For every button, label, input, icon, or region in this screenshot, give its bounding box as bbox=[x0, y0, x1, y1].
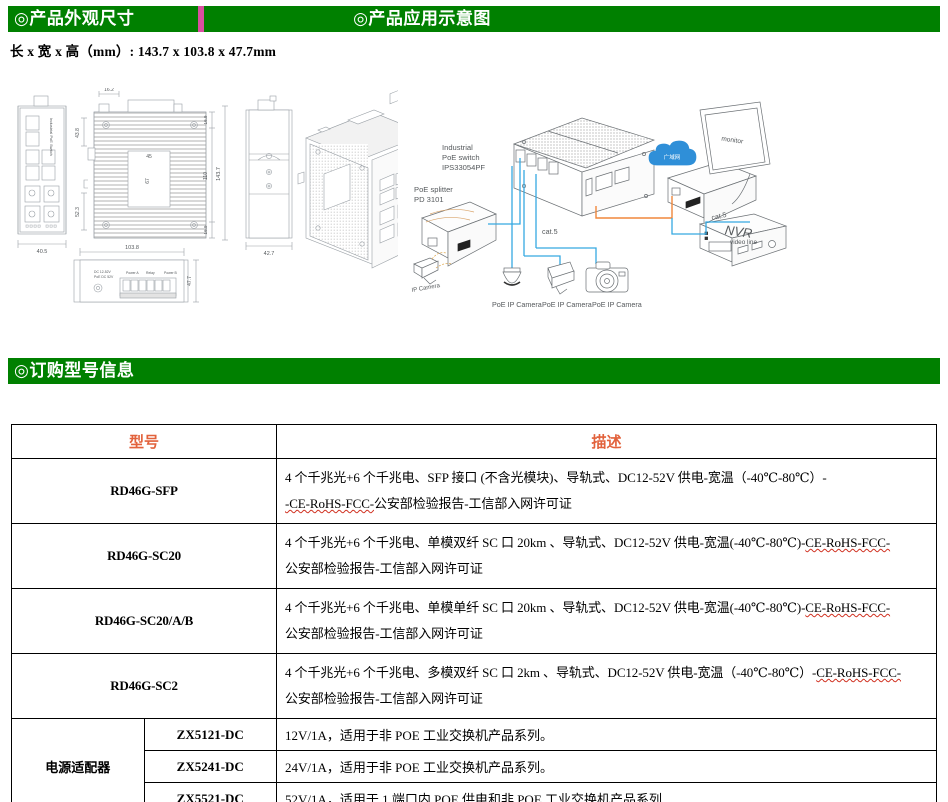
dim-bottom-width: 103.8 bbox=[125, 245, 139, 251]
dim-left-lower: 52.3 bbox=[75, 207, 81, 217]
dim-right-top: 16.9 bbox=[203, 115, 208, 124]
switch-label-line1: Industrial bbox=[442, 143, 473, 152]
dim-inner-top: 45 bbox=[146, 154, 152, 160]
table-row: RD46G-SC20 4 个千兆光+6 个千兆电、单模双纤 SC 口 20km … bbox=[12, 524, 937, 589]
diagram-poe-splitter bbox=[414, 202, 496, 284]
svg-text:Industrial PoE Switch: Industrial PoE Switch bbox=[49, 118, 54, 156]
model-name: RD46G-SC20 bbox=[12, 524, 277, 589]
dim-front-width: 40.5 bbox=[37, 249, 48, 255]
section-header-ordering-label: ◎订购型号信息 bbox=[14, 361, 134, 380]
diagram-camera-dome bbox=[503, 268, 521, 285]
svg-text:DC 12-52V: DC 12-52V bbox=[94, 270, 112, 274]
model-description: 4 个千兆光+6 个千兆电、多模双纤 SC 口 2km 、导轨式、DC12-52… bbox=[277, 654, 937, 719]
table-row: RD46G-SC2 4 个千兆光+6 个千兆电、多模双纤 SC 口 2km 、导… bbox=[12, 654, 937, 719]
cloud-label: 广域网 bbox=[664, 153, 681, 161]
svg-text:Relay: Relay bbox=[146, 271, 155, 275]
video-line-label: video line bbox=[730, 239, 757, 246]
diagram-camera-dslr bbox=[586, 262, 628, 292]
product-datasheet-page: ◎产品外观尺寸 ◎产品应用示意图 长 x 宽 x 高（mm）: 143.7 x … bbox=[0, 0, 948, 802]
adapter-description: 52V/1A，适用于 1 端口内 POE 供电和非 POE 工业交换机产品系列 bbox=[277, 783, 937, 802]
table-header-row: 型号 描述 bbox=[12, 425, 937, 459]
dim-left-upper: 43.8 bbox=[75, 128, 81, 138]
dim-inner-mid: 67 bbox=[145, 178, 151, 184]
switch-label-line3: IPS33054PF bbox=[442, 163, 485, 172]
svg-text:PoE DC 52V: PoE DC 52V bbox=[94, 275, 114, 279]
diagram-camera-bullet bbox=[548, 262, 574, 294]
desc-cert-1: CE-RoHS-FCC- bbox=[816, 665, 901, 680]
camera-label-2: PoE IP Camera bbox=[542, 300, 592, 309]
desc-cert-1: CE-RoHS-FCC- bbox=[805, 535, 890, 550]
drawing-side-view: 42.7 bbox=[246, 96, 292, 257]
desc-cert-1: -CE-RoHS-FCC- bbox=[285, 496, 374, 511]
splitter-label-line1: PoE splitter bbox=[414, 185, 453, 194]
section-header-dimensions-label: ◎产品外观尺寸 bbox=[14, 9, 134, 28]
adapter-model: ZX5521-DC bbox=[144, 783, 277, 802]
dim-right-bottom: 16.9 bbox=[203, 225, 208, 234]
drawing-isometric-view: Industrial PoE Switch bbox=[298, 89, 398, 268]
drawing-front-view: Industrial PoE Switch 40.5 bbox=[18, 96, 66, 255]
model-description: 4 个千兆光+6 个千兆电、单模单纤 SC 口 20km 、导轨式、DC12-5… bbox=[277, 589, 937, 654]
dim-top-small: 16.2 bbox=[104, 88, 114, 93]
mechanical-drawings: Industrial PoE Switch 40.5 bbox=[6, 88, 398, 320]
table-row: RD46G-SFP 4 个千兆光+6 个千兆电、SFP 接口 (不含光模块)、导… bbox=[12, 459, 937, 524]
desc-line-1: 4 个千兆光+6 个千兆电、多模双纤 SC 口 2km 、导轨式、DC12-52… bbox=[285, 665, 816, 680]
camera-label-3: PoE IP Camera bbox=[592, 300, 642, 309]
model-name: RD46G-SFP bbox=[12, 459, 277, 524]
dimension-caption: 长 x 宽 x 高（mm）: 143.7 x 103.8 x 47.7mm bbox=[10, 40, 276, 60]
dim-right-mid: 110 bbox=[203, 172, 209, 180]
application-diagram: Industrial PoE switch IPS33054PF bbox=[400, 96, 944, 322]
section-header-application: ◎产品应用示意图 bbox=[204, 6, 940, 32]
svg-text:Power A: Power A bbox=[126, 271, 139, 275]
model-description: 4 个千兆光+6 个千兆电、单模双纤 SC 口 20km 、导轨式、DC12-5… bbox=[277, 524, 937, 589]
table-row-adapter: ZX5241-DC 24V/1A，适用于非 POE 工业交换机产品系列。 bbox=[12, 751, 937, 783]
section-header-ordering: ◎订购型号信息 bbox=[8, 358, 940, 384]
ordering-table: 型号 描述 RD46G-SFP 4 个千兆光+6 个千兆电、SFP 接口 (不含… bbox=[11, 424, 937, 802]
adapter-description: 12V/1A，适用于非 POE 工业交换机产品系列。 bbox=[277, 719, 937, 751]
adapter-description: 24V/1A，适用于非 POE 工业交换机产品系列。 bbox=[277, 751, 937, 783]
desc-line-1: 4 个千兆光+6 个千兆电、SFP 接口 (不含光模块)、导轨式、DC12-52… bbox=[285, 470, 827, 485]
adapter-model: ZX5121-DC bbox=[144, 719, 277, 751]
splitter-label-line2: PD 3101 bbox=[414, 195, 444, 204]
desc-line-2: 公安部检验报告-工信部入网许可证 bbox=[374, 496, 572, 511]
adapter-model: ZX5241-DC bbox=[144, 751, 277, 783]
switch-label-line2: PoE switch bbox=[442, 153, 480, 162]
model-description: 4 个千兆光+6 个千兆电、SFP 接口 (不含光模块)、导轨式、DC12-52… bbox=[277, 459, 937, 524]
column-header-model: 型号 bbox=[12, 425, 277, 459]
svg-text:Power B: Power B bbox=[164, 271, 178, 275]
dim-bottom-height: 47.7 bbox=[187, 276, 193, 286]
adapter-group-label: 电源适配器 bbox=[12, 719, 145, 802]
model-name: RD46G-SC20/A/B bbox=[12, 589, 277, 654]
cloud-icon: 广域网 bbox=[649, 141, 696, 165]
cable-label-cat5-left: cat.5 bbox=[542, 227, 558, 236]
camera-label-1: PoE IP Camera bbox=[492, 300, 542, 309]
drawing-bottom-view: 103.8 DC 12-52V PoE DC 52V Power A Relay… bbox=[74, 245, 199, 302]
desc-line-1: 4 个千兆光+6 个千兆电、单模双纤 SC 口 20km 、导轨式、DC12-5… bbox=[285, 535, 805, 550]
dim-side-width: 42.7 bbox=[264, 251, 275, 257]
table-row-adapter: 电源适配器 ZX5121-DC 12V/1A，适用于非 POE 工业交换机产品系… bbox=[12, 719, 937, 751]
table-row-adapter: ZX5521-DC 52V/1A，适用于 1 端口内 POE 供电和非 POE … bbox=[12, 783, 937, 802]
ip-camera-label: IP Camera bbox=[411, 283, 441, 294]
model-name: RD46G-SC2 bbox=[12, 654, 277, 719]
diagram-poe-switch bbox=[514, 118, 654, 216]
section-header-application-label: ◎产品应用示意图 bbox=[204, 6, 940, 32]
table-row: RD46G-SC20/A/B 4 个千兆光+6 个千兆电、单模单纤 SC 口 2… bbox=[12, 589, 937, 654]
desc-line-2: 公安部检验报告-工信部入网许可证 bbox=[285, 691, 483, 706]
section-header-dimensions: ◎产品外观尺寸 bbox=[8, 6, 198, 32]
dim-right-total: 143.7 bbox=[216, 167, 222, 181]
column-header-description: 描述 bbox=[277, 425, 937, 459]
desc-line-2: 公安部检验报告-工信部入网许可证 bbox=[285, 561, 483, 576]
desc-line-1: 4 个千兆光+6 个千兆电、单模单纤 SC 口 20km 、导轨式、DC12-5… bbox=[285, 600, 805, 615]
desc-cert-1: CE-RoHS-FCC- bbox=[805, 600, 890, 615]
drawing-finned-view: 45 67 16.2 43.8 52.3 bbox=[75, 88, 228, 240]
desc-line-2: 公安部检验报告-工信部入网许可证 bbox=[285, 626, 483, 641]
